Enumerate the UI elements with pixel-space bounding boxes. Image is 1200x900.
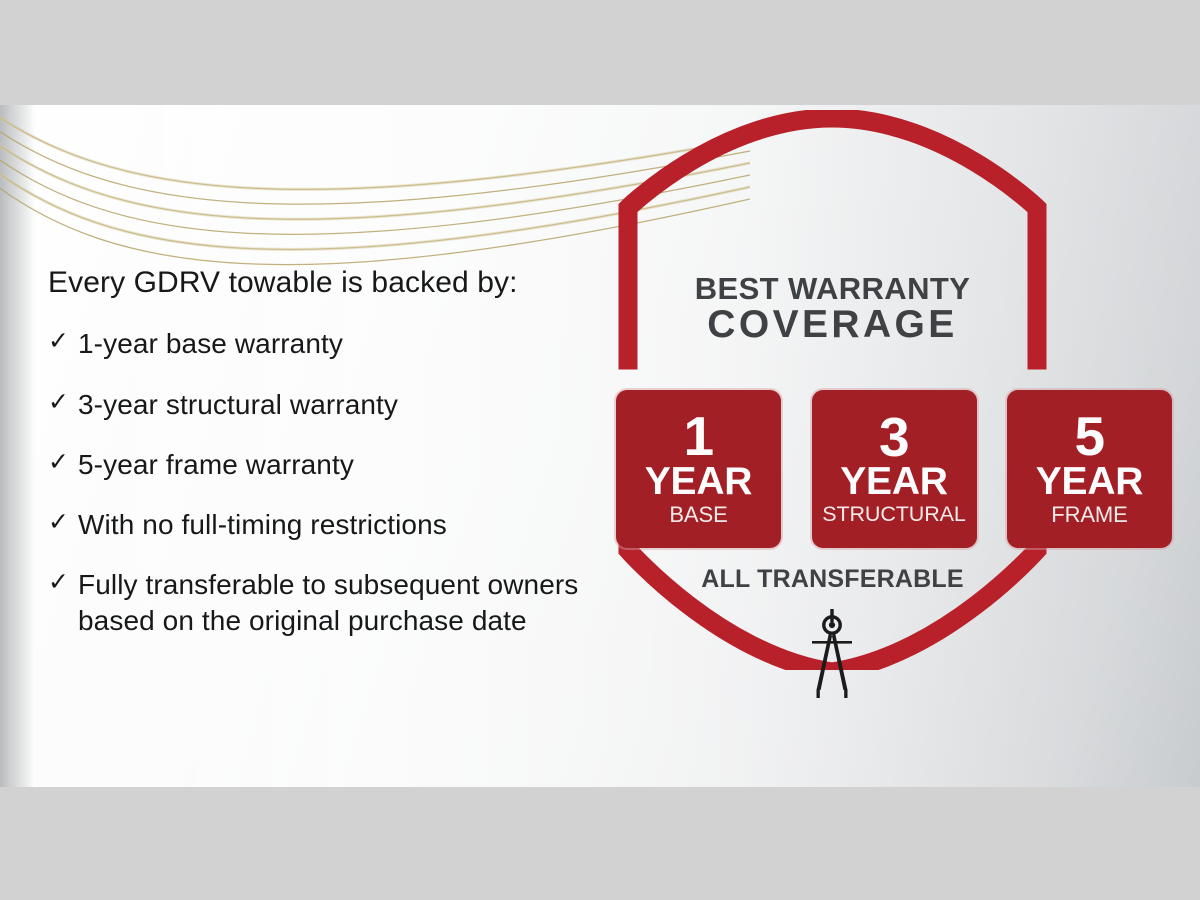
warranty-card-number: 1 bbox=[683, 411, 713, 462]
check-icon: ✓ bbox=[48, 326, 78, 358]
warranty-card-structural: 3 YEAR STRUCTURAL bbox=[812, 390, 977, 548]
list-item: ✓ Fully transferable to subsequent owner… bbox=[48, 567, 658, 638]
list-item: ✓ 1-year base warranty bbox=[48, 326, 658, 361]
campers-inn-tent-icon bbox=[965, 785, 1021, 787]
warranty-card-kind: FRAME bbox=[1051, 501, 1128, 529]
badge-title-line1: BEST WARRANTY bbox=[600, 273, 1065, 304]
warranty-card-base: 1 YEAR BASE bbox=[616, 390, 781, 548]
check-icon: ✓ bbox=[48, 387, 78, 419]
list-item-label: 5-year frame warranty bbox=[78, 447, 354, 482]
page-fold-shadow bbox=[0, 105, 36, 787]
check-icon: ✓ bbox=[48, 567, 78, 599]
best-warranty-coverage-badge: BEST WARRANTY COVERAGE 1 YEAR BASE 3 YEA… bbox=[600, 110, 1200, 670]
badge-title: BEST WARRANTY COVERAGE bbox=[600, 273, 1065, 345]
list-item-label: Fully transferable to subsequent owners … bbox=[78, 567, 658, 638]
list-item: ✓ With no full-timing restrictions bbox=[48, 507, 658, 542]
warranty-card-number: 3 bbox=[879, 412, 909, 463]
campers-inn-rv-logo[interactable]: campers inn RV ® bbox=[965, 781, 1143, 787]
warranty-card-kind: BASE bbox=[669, 501, 727, 529]
warranty-card-kind: STRUCTURAL bbox=[822, 501, 966, 528]
list-item: ✓ 3-year structural warranty bbox=[48, 387, 658, 422]
badge-footer-text: ALL TRANSFERABLE bbox=[600, 565, 1065, 594]
logo-line-campers: campers bbox=[1017, 782, 1113, 787]
check-icon: ✓ bbox=[48, 447, 78, 479]
warranty-card-frame: 5 YEAR FRAME bbox=[1007, 390, 1172, 548]
check-icon: ✓ bbox=[48, 507, 78, 539]
warranty-copy-column: Every GDRV towable is backed by: ✓ 1-yea… bbox=[48, 265, 658, 638]
page-title: Every GDRV towable is backed by: bbox=[48, 265, 658, 300]
warranty-card-number: 5 bbox=[1074, 411, 1104, 462]
list-item-label: 3-year structural warranty bbox=[78, 387, 398, 422]
drafting-compass-icon bbox=[800, 608, 864, 700]
warranty-card-unit: YEAR bbox=[1036, 462, 1144, 501]
list-item: ✓ 5-year frame warranty bbox=[48, 447, 658, 482]
warranty-slide: Every GDRV towable is backed by: ✓ 1-yea… bbox=[0, 105, 1200, 787]
list-item-label: With no full-timing restrictions bbox=[78, 507, 447, 542]
warranty-term-cards: 1 YEAR BASE 3 YEAR STRUCTURAL 5 YEAR FRA… bbox=[616, 390, 1172, 548]
warranty-card-unit: YEAR bbox=[645, 462, 753, 501]
list-item-label: 1-year base warranty bbox=[78, 326, 343, 361]
warranty-card-unit: YEAR bbox=[840, 462, 948, 501]
badge-title-line2: COVERAGE bbox=[600, 304, 1065, 345]
campers-inn-rv-wordmark: campers inn RV ® bbox=[1017, 781, 1147, 787]
screenshot-stage: Every GDRV towable is backed by: ✓ 1-yea… bbox=[0, 0, 1200, 900]
